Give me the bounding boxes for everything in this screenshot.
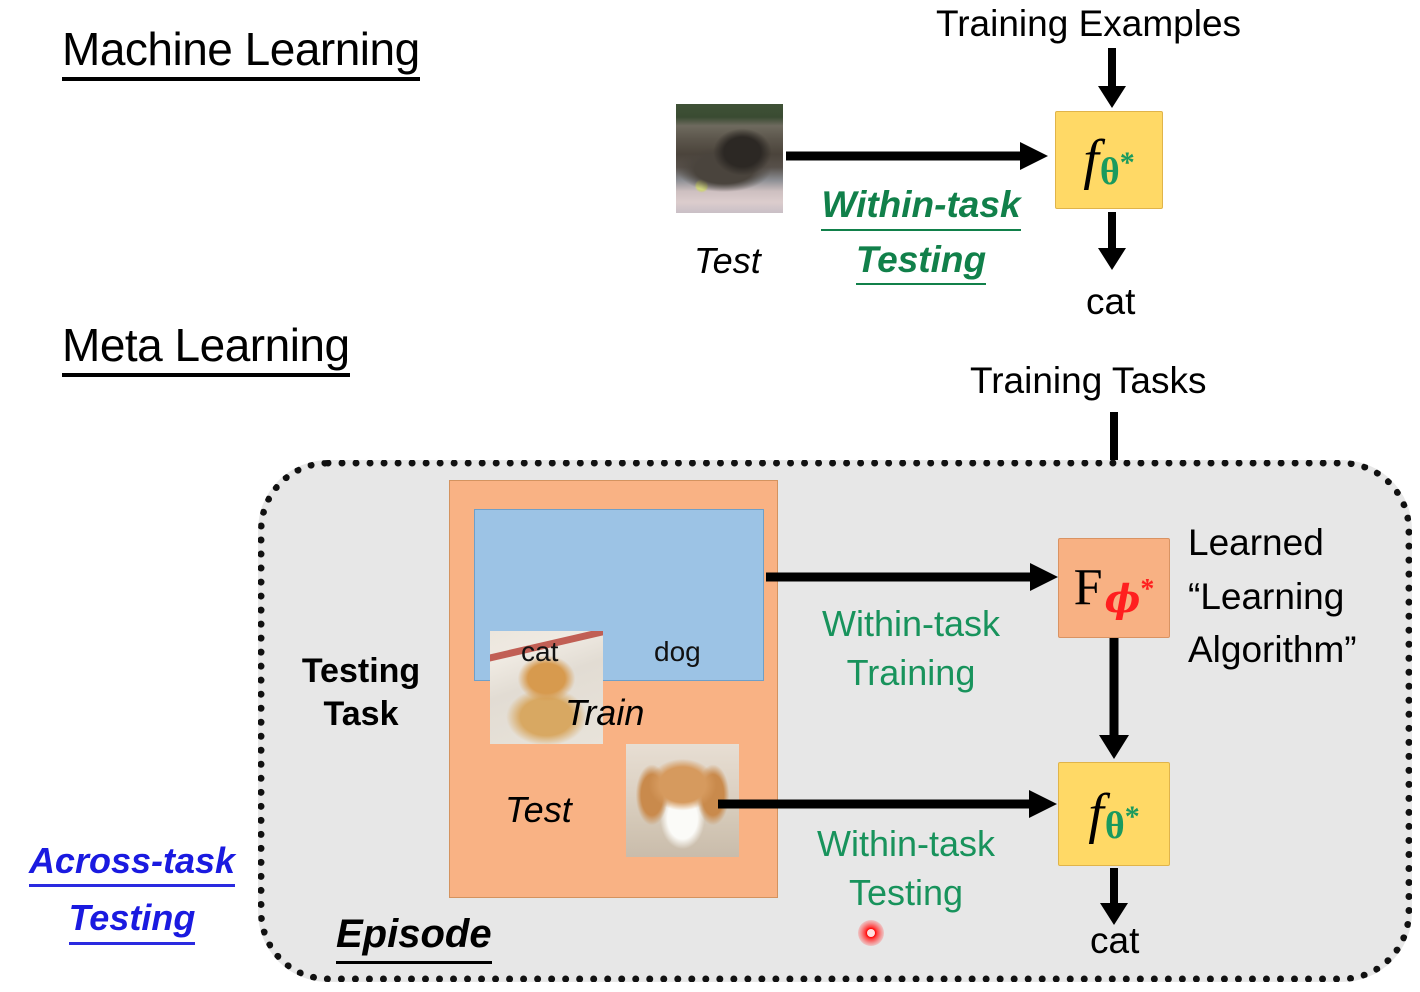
within-task-training-label: Within-task Training [795, 600, 1027, 697]
within-task-testing-line1: Within-task [790, 820, 1022, 869]
ml-within-task-line1: Within-task [821, 185, 1020, 231]
task-model-box-f-theta[interactable]: fθ* [1058, 762, 1170, 866]
support-set-caption: Train [565, 692, 644, 734]
meta-model-box-F-phi[interactable]: Fϕ* [1058, 538, 1170, 638]
arrow-task-model-to-output [1092, 868, 1136, 928]
task-output-label: cat [1090, 920, 1139, 962]
testing-task-line2: Task [287, 693, 435, 736]
across-task-line1: Across-task [29, 840, 235, 887]
ml-model-star: * [1120, 148, 1135, 178]
arrow-query-to-task-model [718, 786, 1062, 822]
task-model-formula: fθ* [1088, 786, 1139, 842]
task-model-f: f [1088, 786, 1105, 842]
learned-line3: Algorithm” [1188, 623, 1357, 677]
arrow-support-to-meta-model [766, 559, 1063, 595]
meta-model-formula: Fϕ* [1074, 562, 1155, 614]
task-model-star: * [1125, 802, 1140, 832]
within-task-training-line1: Within-task [795, 600, 1027, 649]
support-label-cat: cat [521, 636, 558, 668]
heading-machine-learning-text: Machine Learning [62, 25, 420, 81]
across-task-line2: Testing [69, 897, 196, 944]
ml-test-image [676, 104, 783, 213]
red-click-indicator-icon [858, 920, 884, 946]
query-caption: Test [505, 789, 572, 831]
arrow-meta-model-to-task-model [1092, 638, 1136, 763]
arrow-ml-model-to-output [1090, 212, 1134, 274]
episode-label: Episode [336, 912, 492, 964]
testing-task-label: Testing Task [287, 650, 435, 735]
diagram-canvas: Machine Learning Meta Learning Training … [0, 0, 1420, 992]
arrow-training-examples-to-model [1090, 48, 1134, 110]
ml-test-caption: Test [694, 240, 761, 282]
ml-output-label: cat [1086, 281, 1135, 323]
heading-meta-learning-text: Meta Learning [62, 321, 350, 377]
heading-meta-learning: Meta Learning [62, 318, 350, 377]
training-examples-label: Training Examples [936, 3, 1241, 45]
within-task-testing-label-meta: Within-task Testing [790, 820, 1022, 917]
meta-model-phi-star: * [1140, 576, 1154, 604]
ml-model-formula: fθ* [1083, 132, 1134, 188]
learned-line2: “Learning [1188, 570, 1357, 624]
ml-model-f: f [1083, 132, 1100, 188]
heading-machine-learning: Machine Learning [62, 22, 420, 81]
ml-within-task-line2: Testing [856, 240, 986, 286]
training-tasks-label: Training Tasks [970, 360, 1207, 402]
task-model-theta: θ [1105, 807, 1125, 845]
within-task-testing-line2: Testing [790, 869, 1022, 918]
testing-task-line1: Testing [287, 650, 435, 693]
support-label-dog: dog [654, 636, 701, 668]
within-task-training-line2: Training [795, 649, 1027, 698]
learned-algorithm-label: Learned “Learning Algorithm” [1188, 516, 1357, 677]
arrow-ml-test-to-model [786, 138, 1054, 174]
learned-line1: Learned [1188, 516, 1357, 570]
meta-model-phi: ϕ [1105, 580, 1141, 618]
across-task-testing-label: Across-task Testing [16, 840, 248, 945]
ml-model-box-f-theta[interactable]: fθ* [1055, 111, 1163, 209]
ml-within-task-testing-label: Within-task Testing [806, 184, 1036, 285]
meta-model-F: F [1074, 562, 1105, 614]
ml-model-theta: θ [1100, 153, 1120, 191]
episode-label-text: Episode [336, 912, 492, 964]
